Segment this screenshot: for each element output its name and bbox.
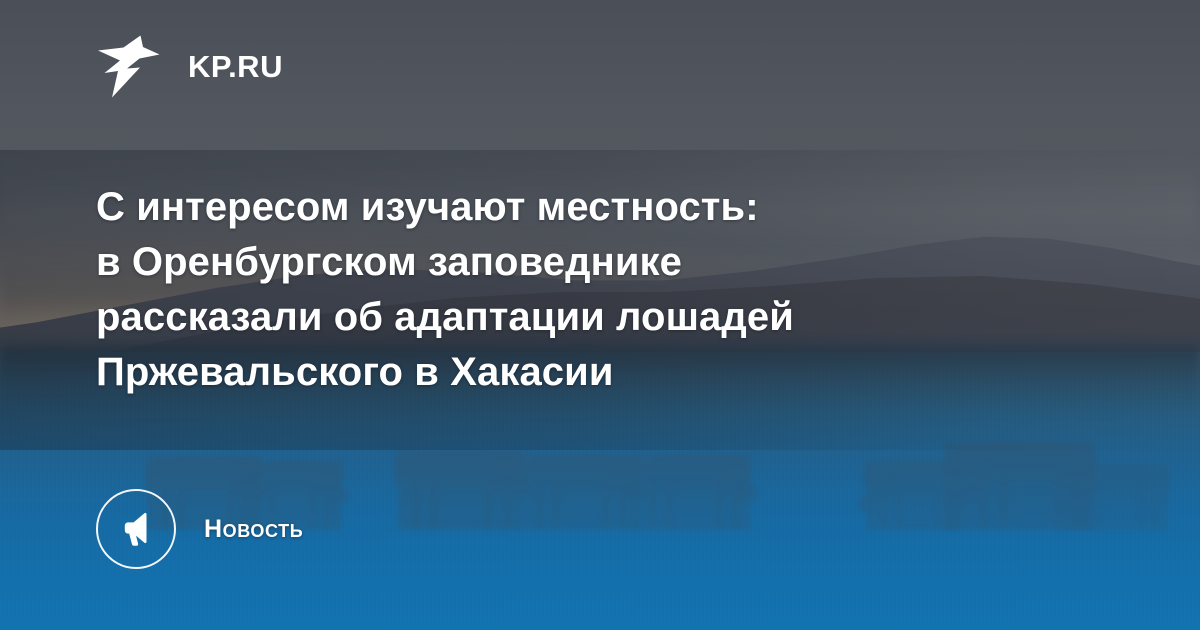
headline-line: в Оренбургском заповеднике — [96, 235, 996, 290]
brand-logo[interactable]: KP.RU — [96, 34, 283, 98]
headline-line: рассказали об адаптации лошадей — [96, 290, 996, 345]
brand-wordmark: KP.RU — [188, 51, 283, 82]
card-content: KP.RU С интересом изучают местность: в О… — [0, 0, 1200, 630]
news-share-card: KP.RU С интересом изучают местность: в О… — [0, 0, 1200, 630]
headline: С интересом изучают местность: в Оренбур… — [96, 180, 996, 400]
megaphone-icon — [116, 509, 156, 549]
swallow-bird-icon — [96, 34, 162, 98]
category-badge[interactable]: Новость — [96, 489, 303, 569]
badge-label: Новость — [204, 515, 303, 544]
badge-icon-circle — [96, 489, 176, 569]
headline-line: С интересом изучают местность: — [96, 180, 996, 235]
headline-line: Пржевальского в Хакасии — [96, 345, 996, 400]
